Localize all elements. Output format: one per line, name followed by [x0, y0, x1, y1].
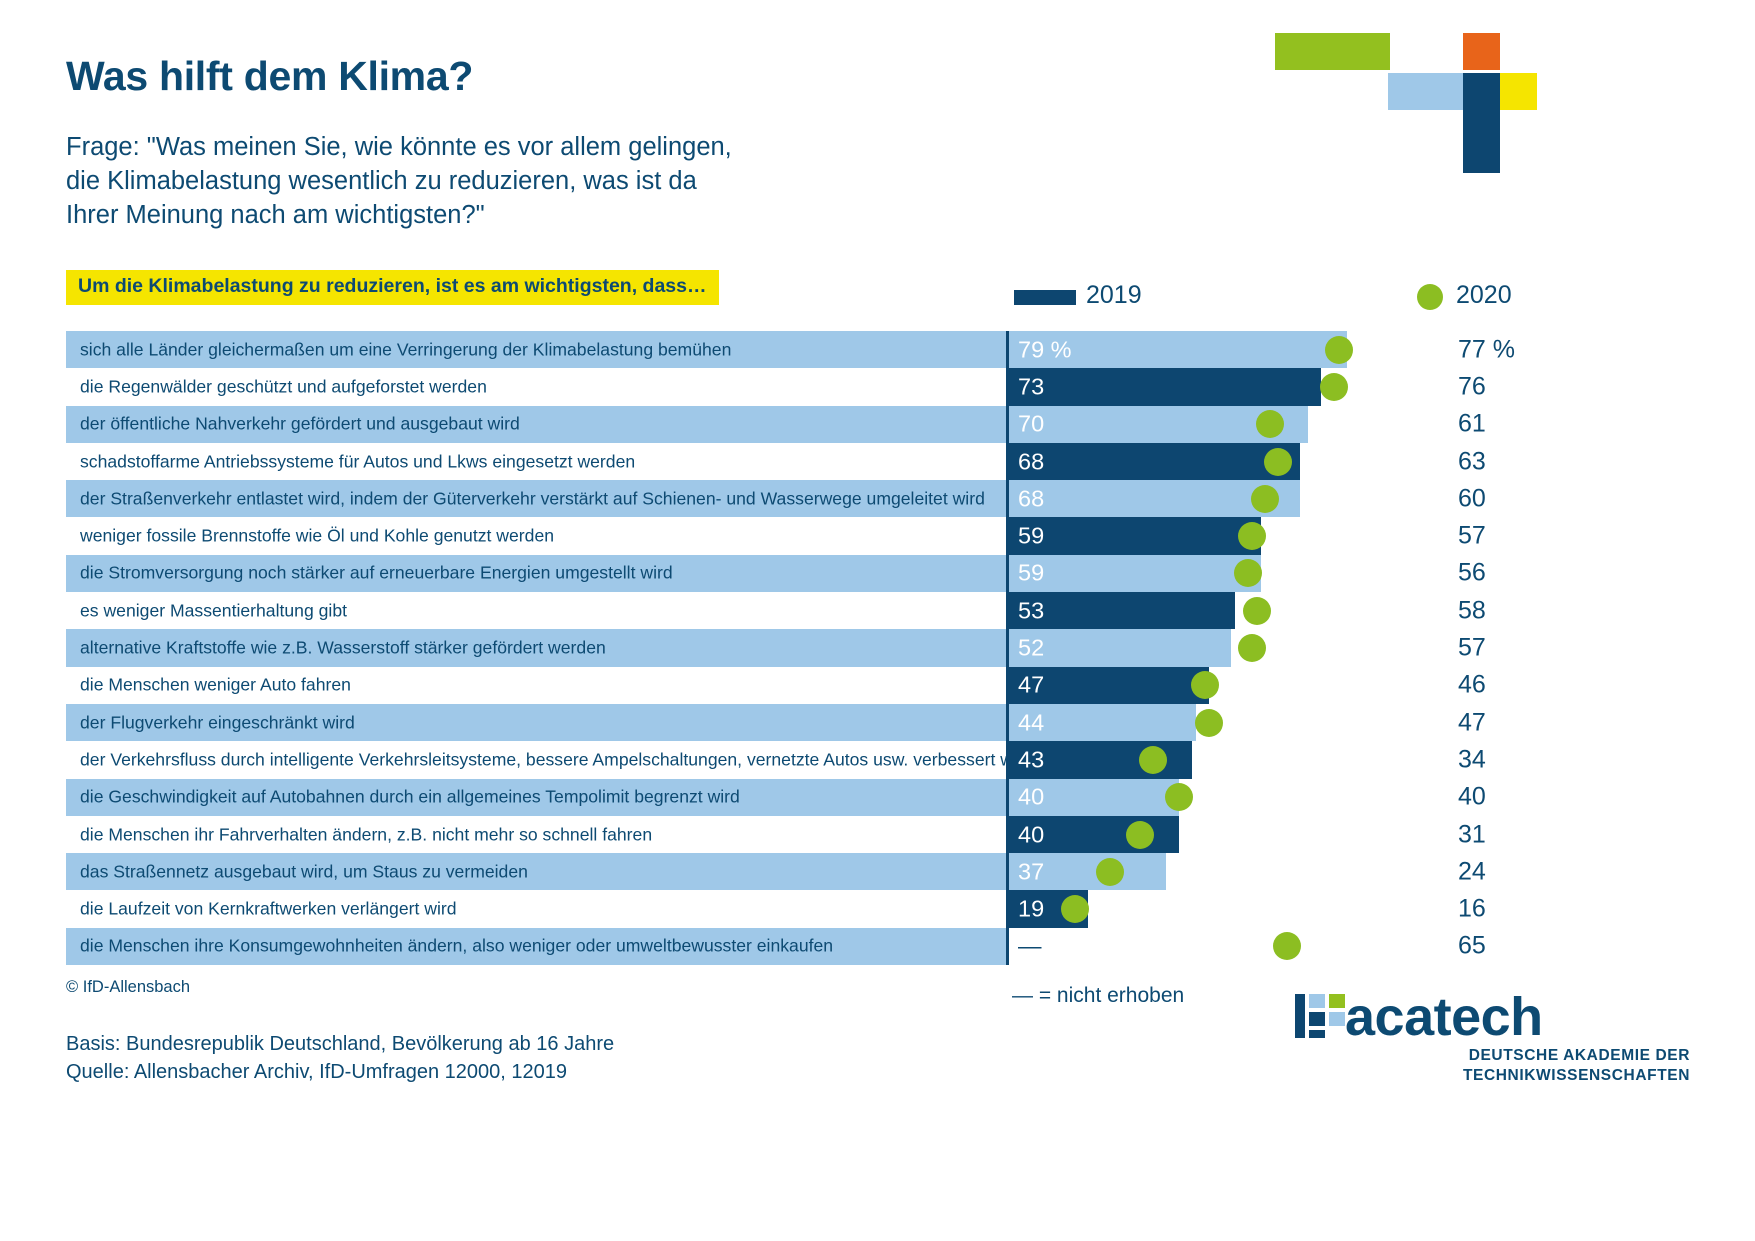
- row-plot: 5358: [1006, 592, 1506, 629]
- row-plot: 7376: [1006, 368, 1506, 405]
- row-plot: 4447: [1006, 704, 1506, 741]
- bar-2019: [1006, 517, 1261, 554]
- value-axis-line: [1006, 443, 1009, 480]
- legend-label-2019: 2019: [1086, 281, 1142, 310]
- value-axis-line: [1006, 517, 1009, 554]
- value-axis-line: [1006, 331, 1009, 368]
- row-plot: 5257: [1006, 629, 1506, 666]
- value-2019: 59: [1018, 560, 1044, 587]
- value-2020: 34: [1458, 745, 1486, 774]
- value-2020: 16: [1458, 895, 1486, 924]
- table-row: das Straßennetz ausgebaut wird, um Staus…: [66, 853, 1506, 890]
- value-2020: 63: [1458, 447, 1486, 476]
- table-row: die Menschen ihre Konsumgewohnheiten änd…: [66, 928, 1506, 965]
- value-axis-line: [1006, 928, 1009, 965]
- table-row: die Menschen weniger Auto fahren4746: [66, 667, 1506, 704]
- dot-2020: [1234, 559, 1262, 587]
- row-label: der Flugverkehr eingeschränkt wird: [80, 712, 355, 733]
- row-plot: 4746: [1006, 667, 1506, 704]
- row-plot: 6860: [1006, 480, 1506, 517]
- row-label: das Straßennetz ausgebaut wird, um Staus…: [80, 861, 528, 882]
- logo-block-green: [1329, 994, 1345, 1008]
- row-label: die Geschwindigkeit auf Autobahnen durch…: [80, 787, 740, 808]
- value-2020: 77 %: [1458, 335, 1515, 364]
- survey-question: Frage: "Was meinen Sie, wie könnte es vo…: [66, 130, 732, 232]
- value-2020: 47: [1458, 708, 1486, 737]
- row-plot: 3724: [1006, 853, 1506, 890]
- value-axis-line: [1006, 741, 1009, 778]
- dot-2020: [1256, 410, 1284, 438]
- table-row: der Verkehrsfluss durch intelligente Ver…: [66, 741, 1506, 778]
- dot-2020: [1243, 597, 1271, 625]
- acatech-wordmark: acatech: [1345, 986, 1543, 1048]
- row-plot: 4334: [1006, 741, 1506, 778]
- value-2019: 37: [1018, 858, 1044, 885]
- value-axis-line: [1006, 704, 1009, 741]
- row-label: es weniger Massentierhaltung gibt: [80, 600, 347, 621]
- row-label: sich alle Länder gleichermaßen um eine V…: [80, 339, 731, 360]
- dot-2020: [1195, 709, 1223, 737]
- row-plot: 79 %77 %: [1006, 331, 1506, 368]
- row-plot: —65: [1006, 928, 1506, 965]
- value-axis-line: [1006, 406, 1009, 443]
- page-title: Was hilft dem Klima?: [66, 53, 473, 100]
- value-2020: 61: [1458, 410, 1486, 439]
- value-2019: 59: [1018, 523, 1044, 550]
- acatech-brandmark: [1275, 28, 1550, 178]
- dot-2020: [1320, 373, 1348, 401]
- row-plot: 4031: [1006, 816, 1506, 853]
- dot-2020: [1325, 336, 1353, 364]
- value-2020: 46: [1458, 671, 1486, 700]
- row-plot: 5957: [1006, 517, 1506, 554]
- dot-2020: [1273, 932, 1301, 960]
- value-axis-line: [1006, 667, 1009, 704]
- value-2019: 40: [1018, 784, 1044, 811]
- brandmark-block-orange: [1463, 33, 1500, 70]
- value-axis-line: [1006, 368, 1009, 405]
- not-surveyed-note: — = nicht erhoben: [1012, 984, 1184, 1008]
- row-label: die Stromversorgung noch stärker auf ern…: [80, 563, 673, 584]
- table-row: schadstoffarme Antriebssysteme für Autos…: [66, 443, 1506, 480]
- dot-2020: [1096, 858, 1124, 886]
- table-row: der Straßenverkehr entlastet wird, indem…: [66, 480, 1506, 517]
- logo-block-navy-bar: [1295, 994, 1305, 1038]
- dot-2020: [1126, 821, 1154, 849]
- value-2019: 44: [1018, 709, 1044, 736]
- value-2019: 68: [1018, 448, 1044, 475]
- table-row: alternative Kraftstoffe wie z.B. Wassers…: [66, 629, 1506, 666]
- value-2019: 53: [1018, 597, 1044, 624]
- row-label: die Menschen ihr Fahrverhalten ändern, z…: [80, 824, 652, 845]
- bar-2019: [1006, 443, 1300, 480]
- dot-2020: [1139, 746, 1167, 774]
- table-row: sich alle Länder gleichermaßen um eine V…: [66, 331, 1506, 368]
- row-plot: 5956: [1006, 555, 1506, 592]
- value-2020: 57: [1458, 634, 1486, 663]
- row-label: die Menschen weniger Auto fahren: [80, 675, 351, 696]
- table-row: der Flugverkehr eingeschränkt wird4447: [66, 704, 1506, 741]
- value-2020: 60: [1458, 484, 1486, 513]
- row-label: der Verkehrsfluss durch intelligente Ver…: [80, 749, 1033, 770]
- dot-2020: [1165, 783, 1193, 811]
- dot-2020: [1061, 895, 1089, 923]
- row-label: der Straßenverkehr entlastet wird, indem…: [80, 488, 985, 509]
- dot-2020: [1238, 522, 1266, 550]
- table-row: es weniger Massentierhaltung gibt5358: [66, 592, 1506, 629]
- dot-2020: [1238, 634, 1266, 662]
- value-2020: 76: [1458, 372, 1486, 401]
- legend-label-2020: 2020: [1456, 281, 1512, 310]
- row-label: die Regenwälder geschützt und aufgeforst…: [80, 376, 487, 397]
- logo-block-lightblue: [1309, 994, 1325, 1008]
- value-axis-line: [1006, 480, 1009, 517]
- table-row: die Stromversorgung noch stärker auf ern…: [66, 555, 1506, 592]
- table-row: die Geschwindigkeit auf Autobahnen durch…: [66, 779, 1506, 816]
- brandmark-block-yellow: [1500, 73, 1537, 110]
- logo-block-navy-sq: [1309, 1012, 1325, 1026]
- value-2019: 43: [1018, 746, 1044, 773]
- basis-source-text: Basis: Bundesrepublik Deutschland, Bevöl…: [66, 1030, 614, 1086]
- dot-2020: [1264, 448, 1292, 476]
- table-row: die Menschen ihr Fahrverhalten ändern, z…: [66, 816, 1506, 853]
- legend-dot-2020: [1417, 284, 1443, 310]
- value-2019: 47: [1018, 672, 1044, 699]
- dot-2020: [1251, 485, 1279, 513]
- table-row: die Laufzeit von Kernkraftwerken verläng…: [66, 890, 1506, 927]
- row-plot: 7061: [1006, 406, 1506, 443]
- value-2019: —: [1018, 933, 1042, 960]
- copyright-text: © IfD-Allensbach: [66, 978, 190, 997]
- brandmark-block-green: [1275, 33, 1390, 70]
- value-axis-line: [1006, 629, 1009, 666]
- dot-2020: [1191, 671, 1219, 699]
- value-2019: 79 %: [1018, 336, 1072, 363]
- value-2020: 56: [1458, 559, 1486, 588]
- table-row: weniger fossile Brennstoffe wie Öl und K…: [66, 517, 1506, 554]
- row-label: der öffentliche Nahverkehr gefördert und…: [80, 414, 520, 435]
- value-axis-line: [1006, 779, 1009, 816]
- value-axis-line: [1006, 853, 1009, 890]
- row-plot: 1916: [1006, 890, 1506, 927]
- value-2019: 19: [1018, 896, 1044, 923]
- table-row: der öffentliche Nahverkehr gefördert und…: [66, 406, 1506, 443]
- acatech-subtitle: DEUTSCHE AKADEMIE DER TECHNIKWISSENSCHAF…: [1330, 1046, 1690, 1086]
- logo-block-lightblue2: [1329, 1012, 1345, 1026]
- value-axis-line: [1006, 816, 1009, 853]
- brandmark-block-lightblue: [1388, 73, 1463, 110]
- value-2020: 40: [1458, 783, 1486, 812]
- legend-swatch-2019: [1014, 290, 1076, 305]
- row-plot: 4040: [1006, 779, 1506, 816]
- value-2020: 31: [1458, 820, 1486, 849]
- value-axis-line: [1006, 592, 1009, 629]
- row-label: weniger fossile Brennstoffe wie Öl und K…: [80, 526, 554, 547]
- value-2019: 40: [1018, 821, 1044, 848]
- row-plot: 6863: [1006, 443, 1506, 480]
- row-label: die Menschen ihre Konsumgewohnheiten änd…: [80, 936, 833, 957]
- value-2019: 70: [1018, 411, 1044, 438]
- brandmark-block-navy-tall: [1463, 73, 1500, 173]
- bar-chart: sich alle Länder gleichermaßen um eine V…: [66, 331, 1506, 965]
- highlight-banner: Um die Klimabelastung zu reduzieren, ist…: [66, 270, 719, 305]
- value-2020: 24: [1458, 857, 1486, 886]
- chart-legend: 2019 2020: [1010, 281, 1755, 313]
- value-2019: 68: [1018, 485, 1044, 512]
- value-2019: 73: [1018, 373, 1044, 400]
- bar-2019: [1006, 555, 1261, 592]
- value-2020: 58: [1458, 596, 1486, 625]
- table-row: die Regenwälder geschützt und aufgeforst…: [66, 368, 1506, 405]
- value-2020: 65: [1458, 932, 1486, 961]
- value-axis-line: [1006, 555, 1009, 592]
- value-axis-line: [1006, 890, 1009, 927]
- row-label: alternative Kraftstoffe wie z.B. Wassers…: [80, 638, 606, 659]
- value-2019: 52: [1018, 635, 1044, 662]
- row-label: schadstoffarme Antriebssysteme für Autos…: [80, 451, 635, 472]
- row-label: die Laufzeit von Kernkraftwerken verläng…: [80, 899, 457, 920]
- bar-2019: [1006, 368, 1321, 405]
- value-2020: 57: [1458, 522, 1486, 551]
- logo-block-navy-sq2: [1309, 1030, 1325, 1038]
